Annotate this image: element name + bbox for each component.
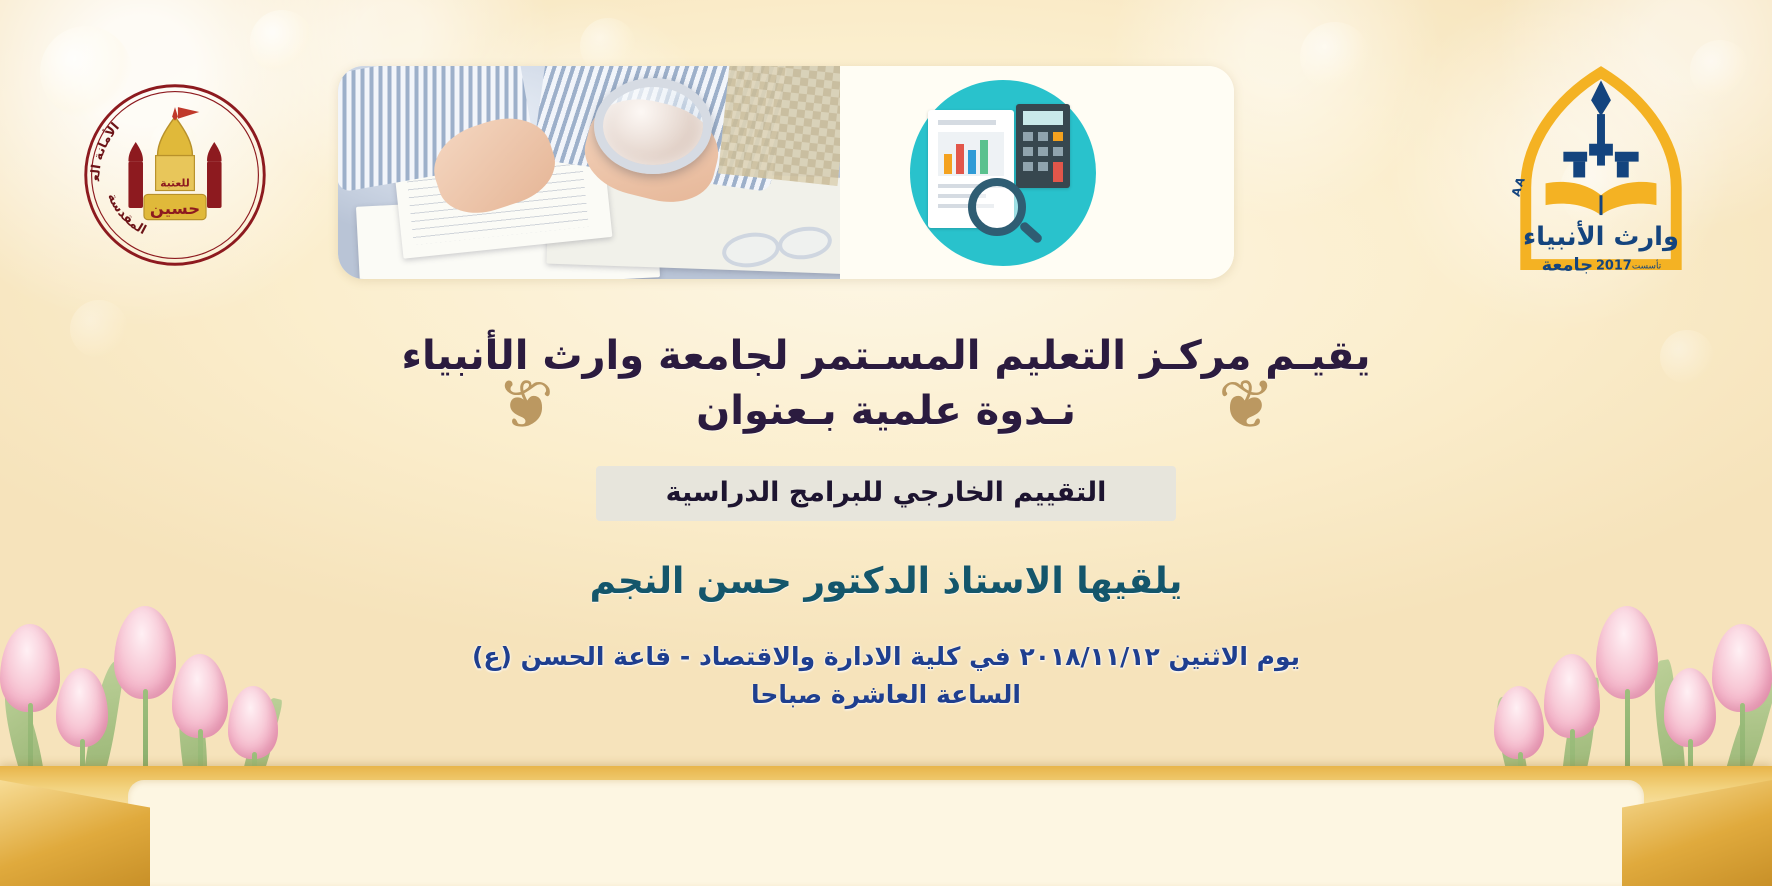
- svg-text:جامعة: جامعة: [1542, 255, 1593, 276]
- svg-text:وارث الأنبياء: وارث الأنبياء: [1523, 220, 1679, 252]
- svg-text:تأسست: تأسست: [1632, 260, 1662, 272]
- audit-report-illustration: [840, 66, 1234, 279]
- ribbon-fold-right: [1622, 780, 1772, 886]
- headline-line-1: يقيـم مركـز التعليم المسـتمر لجامعة وارث…: [0, 330, 1772, 383]
- svg-text:للعتبة: للعتبة: [160, 177, 190, 190]
- tulip-flower: [1596, 606, 1658, 766]
- seminar-banner: الأمانة العامة حسين المقدسة للعت: [0, 0, 1772, 886]
- magnifier-icon: [968, 178, 1026, 236]
- tulip-flower: [114, 606, 176, 766]
- svg-text:2017: 2017: [1596, 259, 1632, 274]
- tulip-flower: [0, 624, 60, 776]
- bokeh-light: [250, 10, 314, 74]
- svg-text:حسين: حسين: [150, 199, 200, 219]
- bottom-gold-ribbon: [0, 766, 1772, 886]
- tulip-flower: [1712, 624, 1772, 776]
- inspection-photo: [338, 66, 840, 279]
- ribbon-inner-panel: [128, 780, 1644, 886]
- headline-line-2: نـدوة علمية بـعنوان: [0, 385, 1772, 438]
- seminar-title-box: التقييم الخارجي للبرامج الدراسية: [596, 466, 1177, 521]
- holy-shrine-logo: الأمانة العامة حسين المقدسة للعت: [78, 78, 272, 272]
- calculator-icon: [1016, 104, 1070, 188]
- bokeh-light: [1300, 22, 1370, 92]
- svg-text:الأمانة العامة: الأمانة العامة: [78, 78, 122, 182]
- patterned-cuff: [718, 66, 840, 186]
- header-media-card: [338, 66, 1234, 279]
- university-logo: UNIVERSITY OF WARITH AL-ANBIYAA وارث الأ…: [1502, 60, 1700, 285]
- magnifying-glass: [594, 78, 712, 174]
